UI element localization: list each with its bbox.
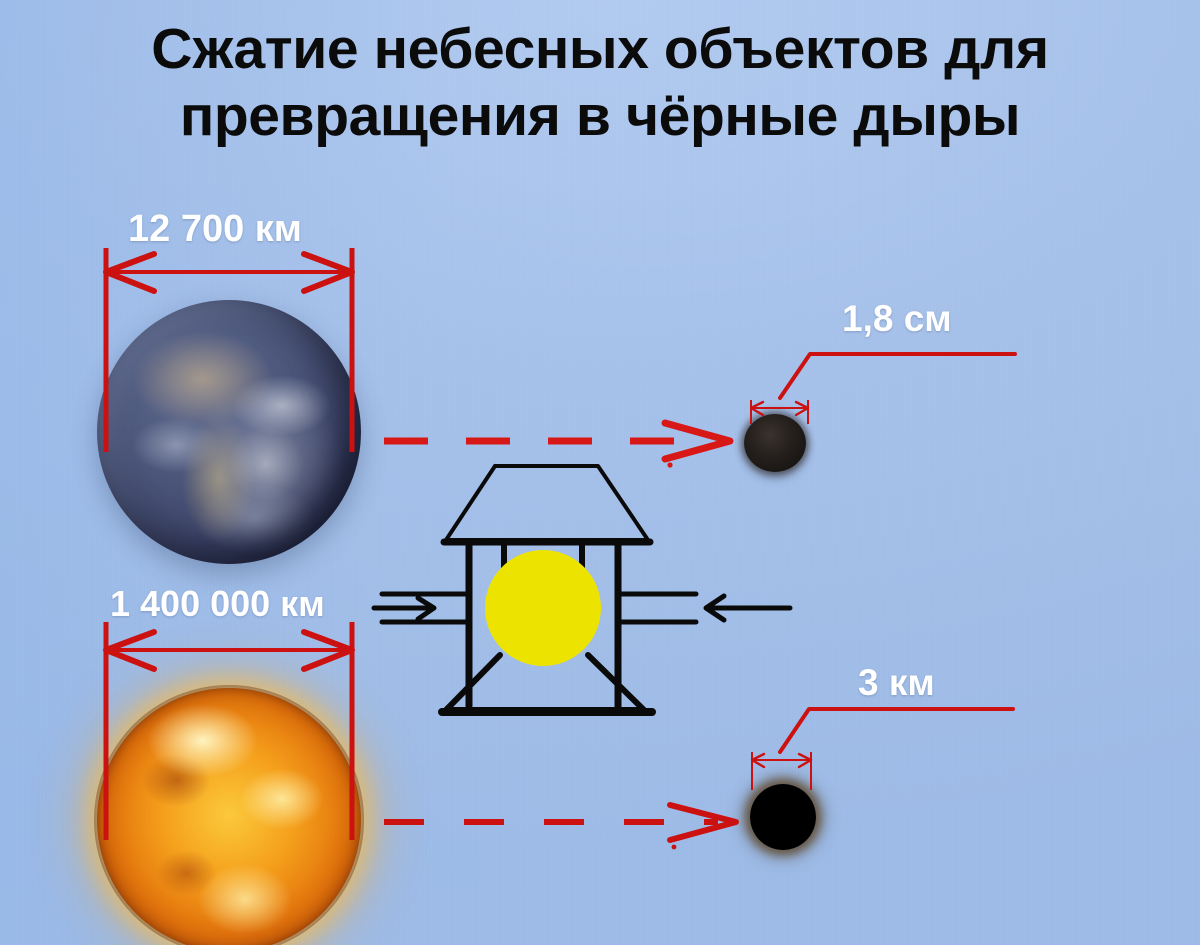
press-force-arrow-right xyxy=(618,594,790,622)
black-hole-large-dimension-label: 3 км xyxy=(858,662,935,704)
press-core-sphere xyxy=(485,550,601,666)
black-hole-small-dimension xyxy=(751,400,808,424)
transform-arrow-bottom xyxy=(384,805,736,849)
black-hole-large-dimension xyxy=(752,752,811,790)
infographic-canvas: Сжатие небесных объектов дляпревращения … xyxy=(0,0,1200,945)
black-hole-large-leader xyxy=(780,709,1013,752)
press-force-arrow-left xyxy=(374,594,469,622)
press-upper-ram xyxy=(446,466,648,540)
sun-dimension-arrow xyxy=(106,622,352,840)
earth-dimension-arrow xyxy=(106,248,352,452)
vector-overlay xyxy=(0,0,1200,945)
transform-arrow-top xyxy=(384,423,730,468)
black-hole-small-dimension-label: 1,8 см xyxy=(842,298,952,340)
sun-dimension-label: 1 400 000 км xyxy=(110,583,325,625)
black-hole-small-leader xyxy=(780,354,1015,398)
earth-dimension-label: 12 700 км xyxy=(128,208,302,251)
